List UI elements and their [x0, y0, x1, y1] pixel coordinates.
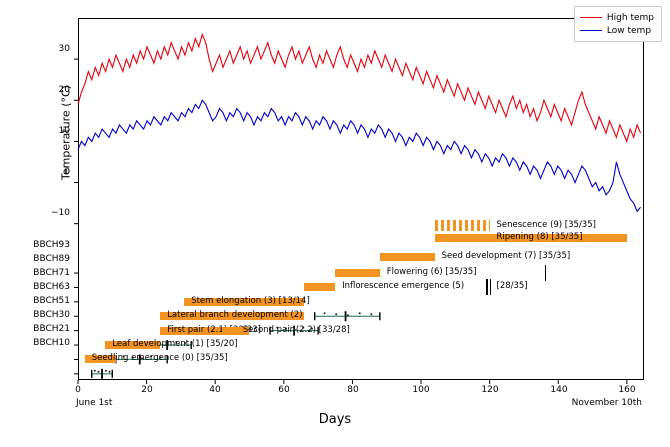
phenology-label-flowering: Flowering (6) [35/35]: [387, 267, 477, 277]
phenology-label-leaf-development: Leaf development (1) [35/20]: [112, 339, 237, 349]
phenology-label-seedling-emergence: Seedling emergence (0) [35/35]: [92, 353, 228, 363]
bbch-marker-bbch93: [545, 265, 547, 281]
line-low-temp: [78, 100, 641, 211]
bbch-marker-inflorescence-count: [486, 279, 488, 295]
bbch-marker-bbch89: [490, 279, 492, 295]
phenology-label-inflorescence: Inflorescence emergence (5): [342, 281, 464, 291]
phenology-label-lateral-branch: Lateral branch development (2): [167, 310, 302, 320]
phenology-label-second-pair: Second pair (2.2) [33/28]: [243, 325, 350, 335]
phenology-label-inflorescence-count: [28/35]: [497, 281, 528, 291]
phenology-bar-senescence: [435, 220, 490, 231]
phenology-label-senescence: Senescence (9) [35/35]: [497, 220, 596, 230]
phenology-label-seed-development: Seed development (7) [35/35]: [442, 251, 571, 261]
phenology-label-ripening: Ripening (8) [35/35]: [497, 232, 583, 242]
phenology-label-stem-elongation: Stem elongation (3) [13/14]: [191, 296, 310, 306]
phenology-bar-flowering: [335, 269, 380, 277]
line-high-temp: [78, 34, 641, 141]
phenology-bar-inflorescence: [304, 283, 335, 291]
phenology-bar-seed-development: [380, 253, 435, 261]
chart-figure: Temperature (°C) 30 20 10 0 −10 BBCH93 B…: [0, 0, 670, 447]
